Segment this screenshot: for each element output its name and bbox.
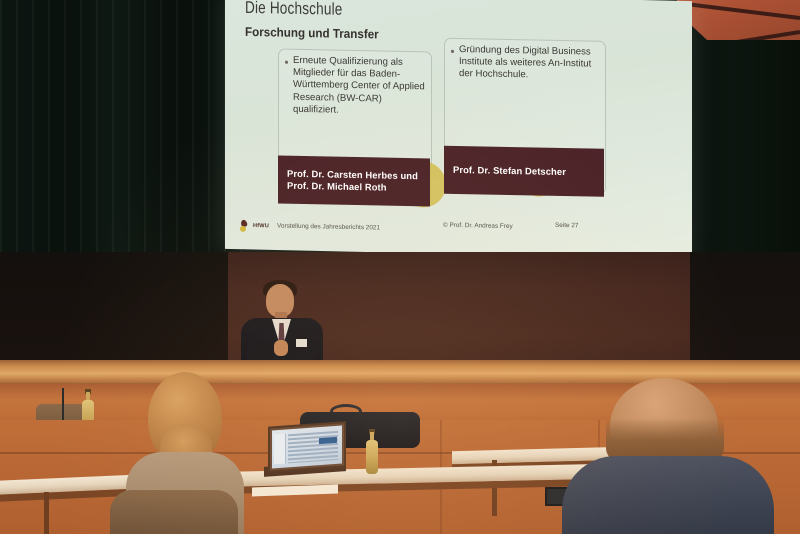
slide-title: Die Hochschule [245,0,342,20]
bullet-right: Gründung des Digital Business Institute … [451,44,601,83]
bottle-body [366,440,378,474]
logo-text: HfWU [253,223,269,229]
bullet-dot-icon [451,50,454,53]
laptop-display [272,426,342,469]
laptop-sidebar-panel [274,433,286,464]
projection-slide: Die Hochschule Forschung und Transfer Er… [225,0,692,259]
slide-footer-note: Vorstellung des Jahresberichts 2021 [277,223,380,232]
audience-right-suit [562,456,774,534]
laptop-document-lines [288,431,338,466]
lecture-hall-photo: Die Hochschule Forschung und Transfer Er… [0,0,800,534]
chair-foreground-left [110,490,238,534]
audience-member-right [562,378,774,534]
presenter-name-badge [296,339,307,347]
leaf-logo-icon [240,220,249,232]
ceiling-beam-line [681,1,800,20]
name-bar-left: Prof. Dr. Carsten Herbes und Prof. Dr. M… [278,156,430,207]
slide-subtitle: Forschung und Transfer [245,25,379,42]
bullet-left: Erneute Qualifizierung als Mitglieder fü… [285,55,425,119]
table-leg [44,492,49,534]
bullet-left-text: Erneute Qualifizierung als Mitglieder fü… [293,55,425,119]
name-bar-left-text: Prof. Dr. Carsten Herbes und Prof. Dr. M… [278,168,430,194]
slide-page-number: Seite 27 [555,222,578,229]
bullet-dot-icon [285,61,288,64]
name-bar-right: Prof. Dr. Stefan Detscher [444,146,604,197]
stage-wall-shadow-left [0,252,228,372]
slide-footer-copyright: © Prof. Dr. Andreas Frey [443,222,513,230]
name-bar-right-text: Prof. Dr. Stefan Detscher [444,164,566,178]
bullet-right-text: Gründung des Digital Business Institute … [459,44,601,83]
presenter-hand [274,340,288,356]
stage-wall-shadow-right [690,252,800,372]
hfwu-logo: HfWU [240,220,269,233]
laptop[interactable] [264,424,346,476]
laptop-screen [268,421,346,472]
laptop-highlight-button [319,437,337,444]
